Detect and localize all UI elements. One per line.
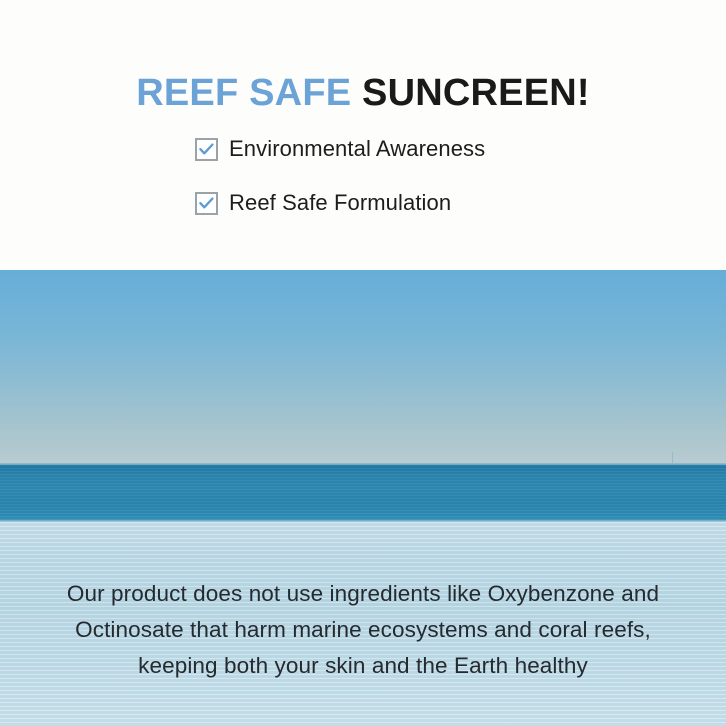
list-item-label: Environmental Awareness [229,136,485,162]
list-item[interactable]: Reef Safe Formulation [195,190,615,216]
top-content-panel: REEF SAFE SUNCREEN! Environmental Awaren… [0,0,726,270]
page-title-accent: REEF SAFE [136,72,351,114]
feature-checklist: Environmental Awareness Reef Safe Formul… [195,136,615,244]
checkbox-reef-safe-formulation[interactable] [195,192,218,215]
product-description-caption: Our product does not use ingredients lik… [0,576,726,684]
ocean-horizon-photo: Our product does not use ingredients lik… [0,270,726,726]
page-title-main: SUNCREEN! [351,72,589,114]
list-item-label: Reef Safe Formulation [229,190,451,216]
ocean-water-region [0,465,726,522]
checkmark-icon [199,197,214,210]
reef-safe-suncreen-poster: REEF SAFE SUNCREEN! Environmental Awaren… [0,0,726,726]
checkmark-icon [199,143,214,156]
page-title: REEF SAFE SUNCREEN! [0,71,726,115]
checkbox-environmental-awareness[interactable] [195,138,218,161]
list-item[interactable]: Environmental Awareness [195,136,615,162]
sky-region [0,270,726,465]
